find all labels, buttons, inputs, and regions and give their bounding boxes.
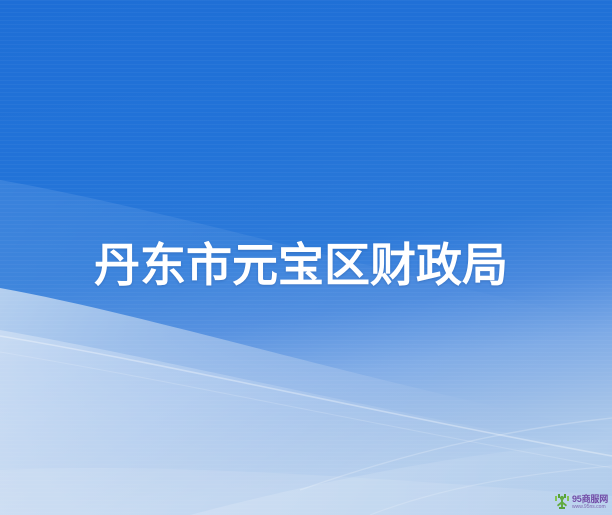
banner-title-container: 丹东市元宝区财政局: [94, 236, 514, 294]
watermark-text: 95商服网 www.95ns.com: [572, 495, 608, 510]
page-title: 丹东市元宝区财政局: [94, 237, 508, 293]
watermark: 95商服网 www.95ns.com: [554, 493, 608, 511]
watermark-url: www.95ns.com: [572, 505, 608, 510]
person-figure-icon: [554, 493, 570, 511]
watermark-name: 95商服网: [572, 495, 608, 504]
site-banner: 丹东市元宝区财政局 95商服网 www.95ns.com: [0, 0, 612, 515]
